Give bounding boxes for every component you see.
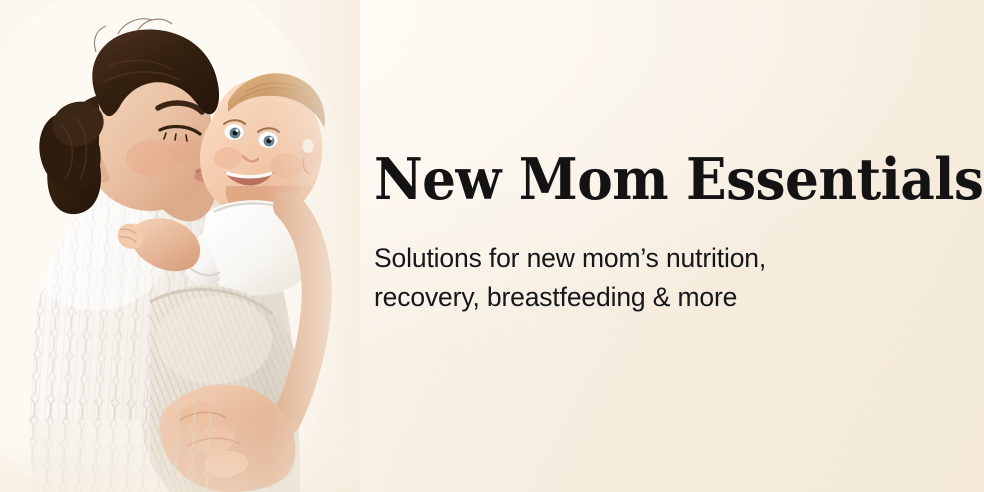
page-title: New Mom Essentials <box>374 150 898 210</box>
mother-and-baby-photo <box>0 0 360 492</box>
subtitle-line-2: recovery, breastfeeding & more <box>374 278 894 317</box>
new-mom-essentials-banner: New Mom Essentials Solutions for new mom… <box>0 0 984 492</box>
banner-subtitle: Solutions for new mom’s nutrition, recov… <box>374 210 894 317</box>
subtitle-line-1: Solutions for new mom’s nutrition, <box>374 239 894 278</box>
banner-copy: New Mom Essentials Solutions for new mom… <box>374 150 934 317</box>
